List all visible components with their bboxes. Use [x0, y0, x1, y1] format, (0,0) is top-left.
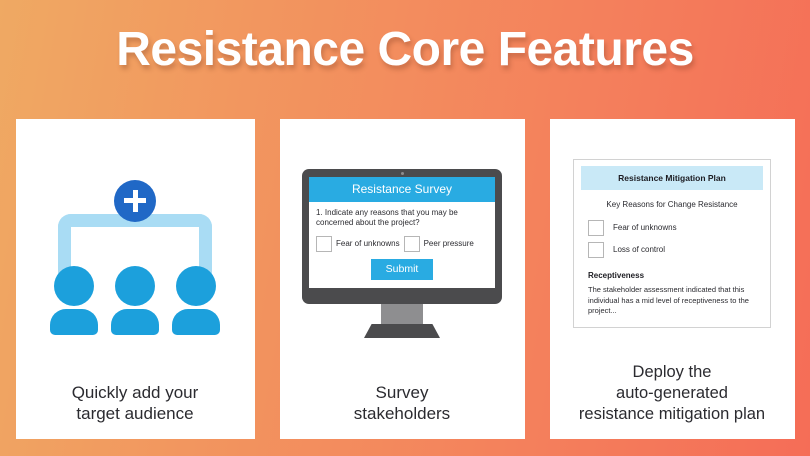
plan-reason-label-loss: Loss of control: [613, 245, 665, 254]
plus-circle-icon[interactable]: [114, 180, 156, 222]
slide-canvas: Resistance Core Features: [0, 0, 810, 456]
survey-checkbox-peer[interactable]: [404, 236, 420, 252]
survey-header: Resistance Survey: [309, 177, 495, 202]
survey-checkbox-fear[interactable]: [316, 236, 332, 252]
survey-body: 1. Indicate any reasons that you may be …: [309, 202, 495, 288]
person-icon: [172, 266, 220, 335]
monitor-base: [364, 324, 440, 338]
survey-question: 1. Indicate any reasons that you may be …: [316, 208, 488, 229]
plan-subheading: Key Reasons for Change Resistance: [574, 190, 770, 217]
plan-header: Resistance Mitigation Plan: [581, 166, 763, 190]
card3-caption-line1: Deploy the: [558, 362, 787, 383]
person-icon: [50, 266, 98, 335]
card2-caption-line2: stakeholders: [288, 403, 517, 425]
card2-caption-line1: Survey: [288, 382, 517, 404]
person-icon: [111, 266, 159, 335]
person-body-icon: [172, 309, 220, 335]
survey-option-label-fear: Fear of unknowns: [336, 239, 400, 248]
card1-caption: Quickly add your target audience: [16, 382, 255, 440]
feature-card-survey[interactable]: Resistance Survey 1. Indicate any reason…: [280, 119, 525, 439]
card3-caption: Deploy the auto-generated resistance mit…: [550, 362, 795, 439]
plan-reason-row: Loss of control: [574, 239, 770, 261]
survey-options: Fear of unknowns Peer pressure: [316, 236, 488, 252]
people-group-icon: [50, 266, 220, 335]
webcam-icon: [401, 172, 404, 175]
survey-submit-button[interactable]: Submit: [371, 259, 433, 280]
card2-artwork: Resistance Survey 1. Indicate any reason…: [280, 119, 525, 382]
card1-artwork: [16, 119, 255, 382]
card2-caption: Survey stakeholders: [280, 382, 525, 440]
card1-caption-line2: target audience: [24, 403, 247, 425]
person-head-icon: [176, 266, 216, 306]
person-head-icon: [115, 266, 155, 306]
plan-checkbox-loss[interactable]: [588, 242, 604, 258]
card3-caption-line2: auto-generated: [558, 383, 787, 404]
plan-reason-label-fear: Fear of unknowns: [613, 223, 677, 232]
plan-reason-row: Fear of unknowns: [574, 217, 770, 239]
plan-section-heading: Receptiveness: [574, 261, 770, 280]
feature-card-mitigation-plan[interactable]: Resistance Mitigation Plan Key Reasons f…: [550, 119, 795, 439]
person-body-icon: [111, 309, 159, 335]
monitor-neck: [381, 304, 423, 324]
card3-artwork: Resistance Mitigation Plan Key Reasons f…: [550, 119, 795, 362]
plan-section-body: The stakeholder assessment indicated tha…: [574, 280, 770, 317]
feature-card-add-audience[interactable]: Quickly add your target audience: [16, 119, 255, 439]
page-title: Resistance Core Features: [0, 26, 810, 74]
card1-caption-line1: Quickly add your: [24, 382, 247, 404]
add-audience-icon: [50, 172, 220, 337]
card3-caption-line3: resistance mitigation plan: [558, 404, 787, 425]
person-body-icon: [50, 309, 98, 335]
monitor-bezel: Resistance Survey 1. Indicate any reason…: [302, 169, 502, 304]
survey-option-label-peer: Peer pressure: [424, 239, 474, 248]
plan-checkbox-fear[interactable]: [588, 220, 604, 236]
monitor-survey-icon: Resistance Survey 1. Indicate any reason…: [302, 169, 502, 338]
monitor-screen: Resistance Survey 1. Indicate any reason…: [309, 177, 495, 288]
person-head-icon: [54, 266, 94, 306]
mitigation-plan-document-icon: Resistance Mitigation Plan Key Reasons f…: [573, 159, 771, 328]
feature-card-row: Quickly add your target audience Resista…: [0, 119, 810, 439]
